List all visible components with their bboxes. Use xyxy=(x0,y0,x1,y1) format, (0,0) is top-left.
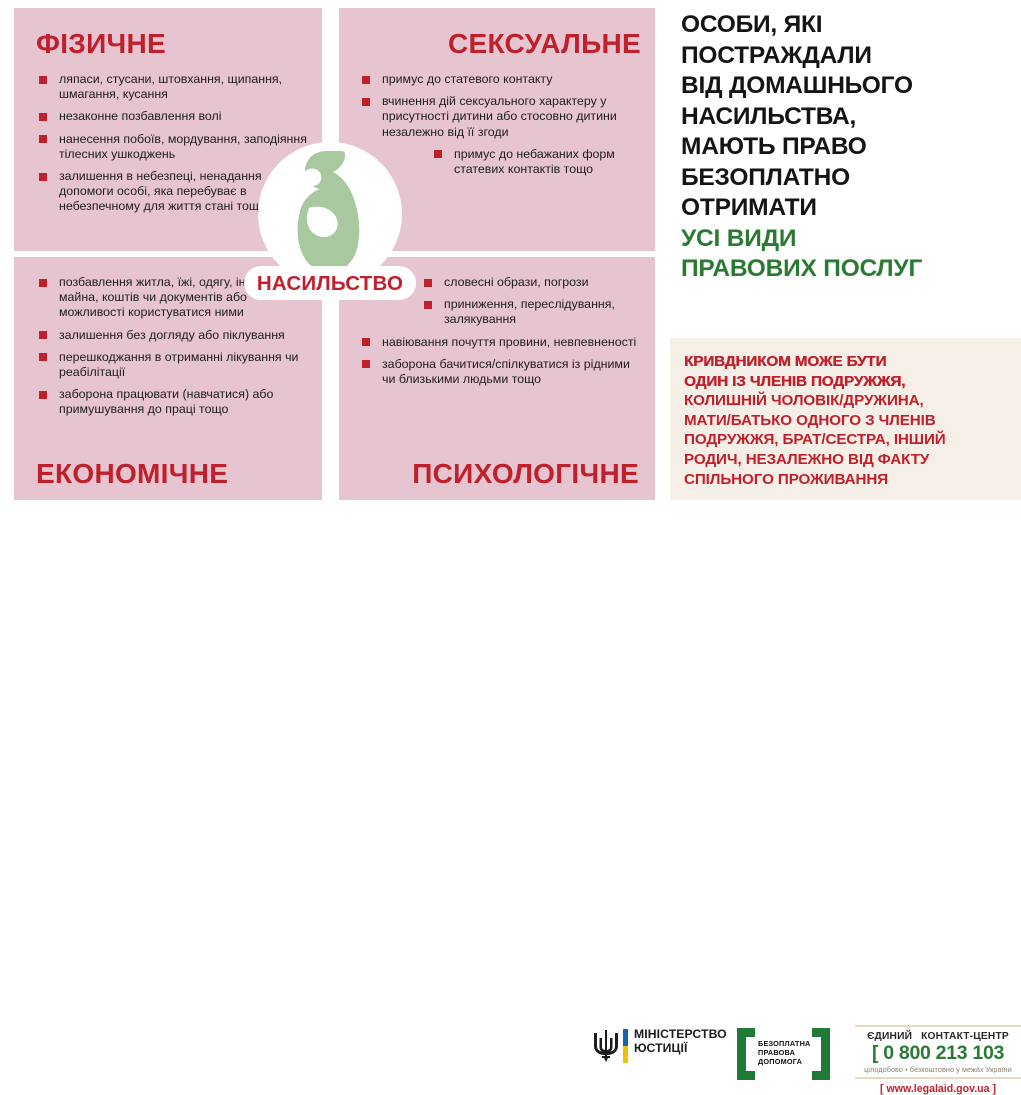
list-item: приниження, переслідування, залякування xyxy=(421,297,641,327)
bracket-right-icon xyxy=(812,1028,830,1080)
contact-center-title: ЄДИНИЙКОНТАКТ-ЦЕНТР xyxy=(855,1031,1021,1042)
legal-aid-line2: ПРАВОВА xyxy=(758,1048,811,1057)
ukraine-trident-icon xyxy=(592,1029,620,1063)
center-label: НАСИЛЬСТВО xyxy=(233,272,427,296)
footer: МІНІСТЕРСТВО ЮСТИЦІЇ БЕЗОПЛАТНА ПРАВОВА … xyxy=(0,505,1021,598)
headline-line: ПОСТРАЖДАЛИ xyxy=(681,41,1021,72)
headline-line: НАСИЛЬСТВА, xyxy=(681,102,1021,133)
list-psychological-items-indented: словесні образи, погрози приниження, пер… xyxy=(421,275,641,328)
list-item: заборона працювати (навчатися) або приму… xyxy=(36,387,308,417)
ministry-name: МІНІСТЕРСТВО ЮСТИЦІЇ xyxy=(634,1028,727,1055)
offender-line: ПОДРУЖЖЯ, БРАТ/СЕСТРА, ІНШИЙ xyxy=(684,430,1009,450)
contact-phone-number[interactable]: [ 0 800 213 103 xyxy=(855,1043,1021,1064)
panel-title-psychological: ПСИХОЛОГІЧНЕ xyxy=(412,460,639,488)
curled-person-icon xyxy=(281,148,381,278)
panel-title-economic: ЕКОНОМІЧНЕ xyxy=(36,460,228,488)
list-item: перешкоджання в отриманні лікування чи р… xyxy=(36,350,308,380)
list-item: примус до небажаних форм статевих контак… xyxy=(431,147,641,177)
divider-top xyxy=(855,1025,1021,1027)
contact-center-block: ЄДИНИЙКОНТАКТ-ЦЕНТР [ 0 800 213 103 ціло… xyxy=(855,1025,1021,1095)
list-item: заборона бачитися/спілкуватися із рідним… xyxy=(359,357,641,387)
legal-aid-line3: ДОПОМОГА xyxy=(758,1057,811,1066)
panel-title-physical: ФІЗИЧНЕ xyxy=(36,30,308,58)
free-legal-aid-logo: БЕЗОПЛАТНА ПРАВОВА ДОПОМОГА xyxy=(737,1028,830,1080)
website-link[interactable]: [ www.legalaid.gov.ua ] xyxy=(855,1083,1021,1095)
list-item: словесні образи, погрози xyxy=(421,275,641,290)
page-title: ОСОБИ, ЯКІ ПОСТРАЖДАЛИ ВІД ДОМАШНЬОГО НА… xyxy=(681,10,1021,285)
ministry-name-line2: ЮСТИЦІЇ xyxy=(634,1042,727,1056)
list-sexual-items-indented: примус до небажаних форм статевих контак… xyxy=(431,147,641,177)
offender-line: КРИВДНИКОМ МОЖЕ БУТИ xyxy=(684,352,1009,372)
headline-line: ОСОБИ, ЯКІ xyxy=(681,10,1021,41)
headline-line: ВІД ДОМАШНЬОГО xyxy=(681,71,1021,102)
panel-title-sexual: СЕКСУАЛЬНЕ xyxy=(359,30,641,58)
offender-line: РОДИЧ, НЕЗАЛЕЖНО ВІД ФАКТУ xyxy=(684,450,1009,470)
contact-availability-note: цілодобово • безкоштовно у межах України xyxy=(855,1065,1021,1074)
list-item: ляпаси, стусани, штовхання, щипання, шма… xyxy=(36,72,308,102)
list-psychological-items: навіювання почуття провини, невпевненост… xyxy=(359,335,641,388)
headline-line-highlight: УСІ ВИДИ xyxy=(681,224,1021,255)
headline-line: МАЮТЬ ПРАВО xyxy=(681,132,1021,163)
list-item: примус до статевого контакту xyxy=(359,72,641,87)
ukraine-flag-bar xyxy=(623,1029,628,1063)
free-legal-aid-name: БЕЗОПЛАТНА ПРАВОВА ДОПОМОГА xyxy=(758,1039,811,1067)
legal-aid-line1: БЕЗОПЛАТНА xyxy=(758,1039,811,1048)
bracket-left-icon xyxy=(737,1028,755,1080)
contact-title-left: ЄДИНИЙ xyxy=(867,1031,912,1042)
contact-title-right: КОНТАКТ-ЦЕНТР xyxy=(921,1031,1009,1042)
center-hub: НАСИЛЬСТВО xyxy=(233,120,427,335)
ministry-of-justice-logo: МІНІСТЕРСТВО ЮСТИЦІЇ xyxy=(592,1029,722,1063)
divider-bottom xyxy=(855,1077,1021,1079)
list-item: навіювання почуття провини, невпевненост… xyxy=(359,335,641,350)
ministry-name-line1: МІНІСТЕРСТВО xyxy=(634,1028,727,1042)
headline-line: ОТРИМАТИ xyxy=(681,193,1021,224)
headline-line-highlight: ПРАВОВИХ ПОСЛУГ xyxy=(681,254,1021,285)
offender-line: МАТИ/БАТЬКО ОДНОГО З ЧЛЕНІВ xyxy=(684,411,1009,431)
offender-line: СПІЛЬНОГО ПРОЖИВАННЯ xyxy=(684,470,1009,490)
offender-line: КОЛИШНІЙ ЧОЛОВІК/ДРУЖИНА, xyxy=(684,391,1009,411)
offender-info-box: КРИВДНИКОМ МОЖЕ БУТИ ОДИН ІЗ ЧЛЕНІВ ПОДР… xyxy=(670,338,1021,500)
headline-line: БЕЗОПЛАТНО xyxy=(681,163,1021,194)
offender-line: ОДИН ІЗ ЧЛЕНІВ ПОДРУЖЖЯ, xyxy=(684,372,1009,392)
